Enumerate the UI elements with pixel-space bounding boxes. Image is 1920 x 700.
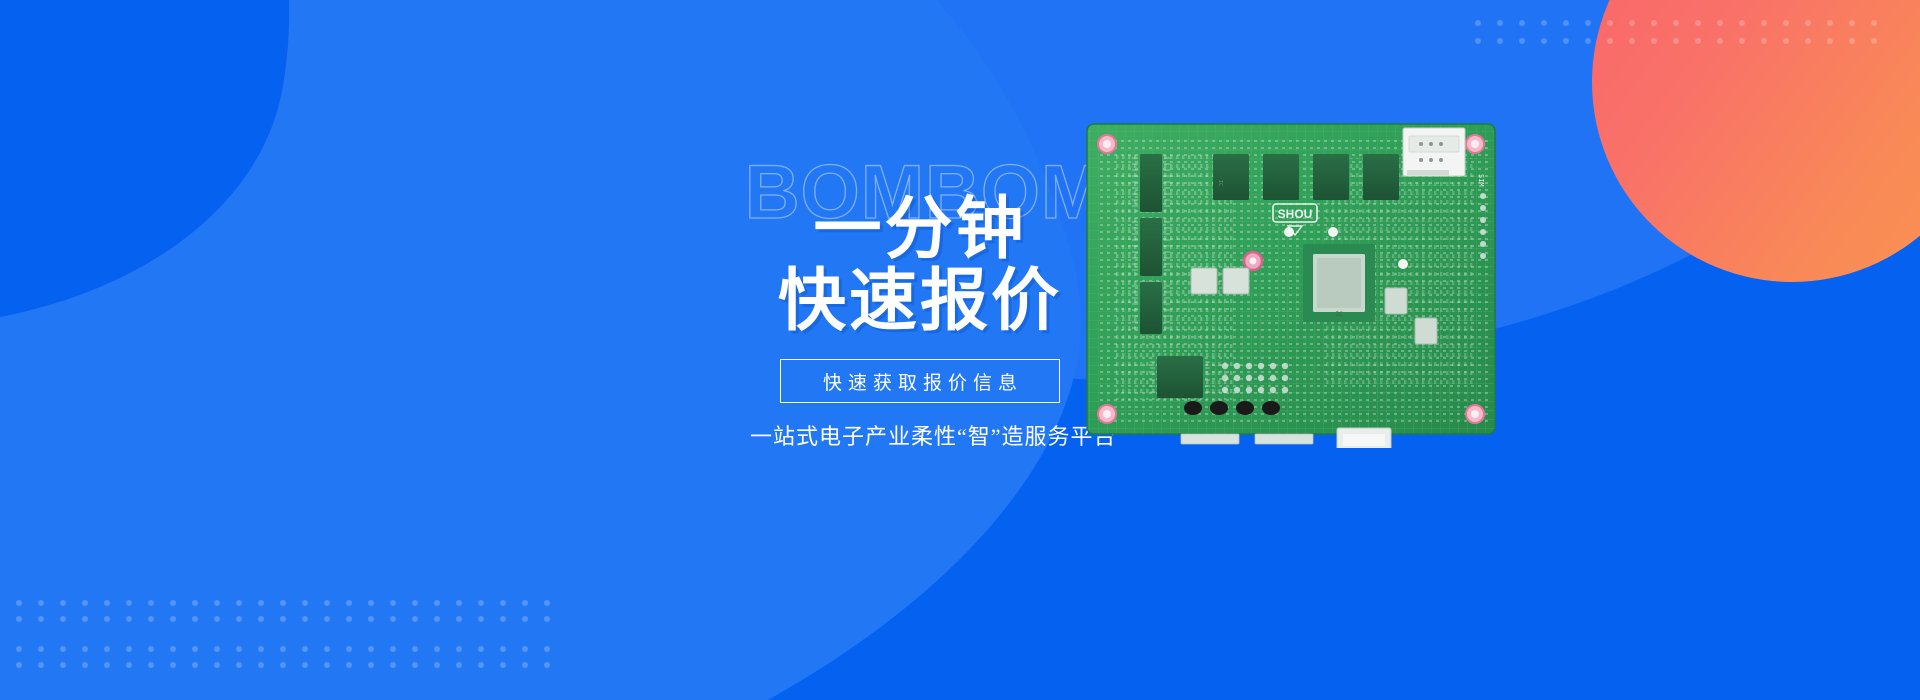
dot-row bbox=[16, 646, 566, 652]
dot bbox=[236, 600, 242, 606]
dot bbox=[412, 662, 418, 668]
dot bbox=[1695, 20, 1701, 26]
dot bbox=[258, 616, 264, 622]
dot-grid-top-right bbox=[1475, 20, 1893, 44]
dot bbox=[324, 616, 330, 622]
dot bbox=[544, 616, 550, 622]
dot bbox=[16, 662, 22, 668]
dot bbox=[148, 616, 154, 622]
dot bbox=[1651, 38, 1657, 44]
dot bbox=[500, 662, 506, 668]
dot bbox=[126, 600, 132, 606]
dot bbox=[258, 600, 264, 606]
dot-row bbox=[16, 662, 566, 668]
dot bbox=[1761, 20, 1767, 26]
dot bbox=[324, 662, 330, 668]
dot bbox=[522, 616, 528, 622]
headline: 一分钟 快速报价 bbox=[750, 193, 1090, 337]
dot bbox=[544, 646, 550, 652]
dot bbox=[38, 600, 44, 606]
dot bbox=[104, 600, 110, 606]
dot bbox=[1497, 20, 1503, 26]
dot bbox=[1849, 20, 1855, 26]
dot bbox=[390, 662, 396, 668]
dot bbox=[1673, 38, 1679, 44]
dot bbox=[170, 646, 176, 652]
dot bbox=[148, 646, 154, 652]
dot bbox=[236, 646, 242, 652]
dot bbox=[82, 616, 88, 622]
dot bbox=[16, 646, 22, 652]
dot bbox=[1475, 38, 1481, 44]
dot bbox=[104, 662, 110, 668]
dot bbox=[82, 646, 88, 652]
dot bbox=[324, 600, 330, 606]
dot bbox=[434, 616, 440, 622]
dot bbox=[126, 662, 132, 668]
dot bbox=[1827, 38, 1833, 44]
dot bbox=[1783, 38, 1789, 44]
dot bbox=[60, 662, 66, 668]
dot bbox=[170, 662, 176, 668]
dot bbox=[478, 600, 484, 606]
dot bbox=[82, 600, 88, 606]
dot bbox=[1849, 38, 1855, 44]
dot bbox=[390, 646, 396, 652]
dot bbox=[1871, 20, 1877, 26]
dot bbox=[16, 600, 22, 606]
dot bbox=[214, 600, 220, 606]
dot bbox=[1805, 20, 1811, 26]
dot bbox=[478, 662, 484, 668]
dot bbox=[1673, 20, 1679, 26]
dot-row bbox=[1475, 20, 1893, 26]
dot bbox=[478, 616, 484, 622]
dot bbox=[456, 600, 462, 606]
dot bbox=[1651, 20, 1657, 26]
dot bbox=[60, 646, 66, 652]
dot bbox=[148, 600, 154, 606]
dot bbox=[280, 616, 286, 622]
dot bbox=[280, 600, 286, 606]
svg-text:IC: IC bbox=[1335, 311, 1343, 318]
dot bbox=[1585, 38, 1591, 44]
headline-line-2: 快速报价 bbox=[750, 265, 1090, 337]
dot bbox=[1827, 20, 1833, 26]
dot bbox=[192, 646, 198, 652]
dot bbox=[1629, 20, 1635, 26]
dot-row bbox=[16, 616, 566, 622]
dot bbox=[104, 646, 110, 652]
dot bbox=[368, 662, 374, 668]
dot-grid-bottom-left bbox=[16, 600, 566, 668]
dot bbox=[544, 600, 550, 606]
dot bbox=[1739, 38, 1745, 44]
dot bbox=[500, 646, 506, 652]
dot bbox=[302, 646, 308, 652]
dot bbox=[456, 662, 462, 668]
headline-line-1: 一分钟 bbox=[750, 193, 1090, 265]
dot bbox=[1783, 20, 1789, 26]
dot bbox=[412, 616, 418, 622]
dot bbox=[522, 662, 528, 668]
tagline: 一站式电子产业柔性“智”造服务平台 bbox=[750, 419, 1090, 451]
dot bbox=[346, 616, 352, 622]
dot bbox=[1739, 20, 1745, 26]
dot bbox=[434, 646, 440, 652]
dot bbox=[368, 646, 374, 652]
get-quote-button[interactable]: 快速获取报价信息 bbox=[780, 359, 1060, 403]
pcb-edge-label: SIM bbox=[1477, 174, 1485, 187]
dot bbox=[126, 616, 132, 622]
pcb-main-processor: IC bbox=[1303, 244, 1375, 322]
svg-text:IC: IC bbox=[1217, 180, 1223, 186]
dot bbox=[60, 600, 66, 606]
dot bbox=[478, 646, 484, 652]
dot bbox=[412, 646, 418, 652]
dot bbox=[1519, 20, 1525, 26]
dot bbox=[258, 662, 264, 668]
dot bbox=[1541, 20, 1547, 26]
dot bbox=[1695, 38, 1701, 44]
dot bbox=[1563, 20, 1569, 26]
dot bbox=[346, 600, 352, 606]
dot bbox=[368, 600, 374, 606]
get-quote-button-label: 快速获取报价信息 bbox=[817, 368, 1023, 395]
dot bbox=[1497, 38, 1503, 44]
pcb-board-image: IC IC bbox=[1085, 118, 1507, 448]
dot bbox=[434, 662, 440, 668]
dot bbox=[38, 662, 44, 668]
dot bbox=[126, 646, 132, 652]
dot bbox=[1717, 38, 1723, 44]
dot bbox=[346, 646, 352, 652]
hero-copy-block: BOMBOM 一分钟 快速报价 快速获取报价信息 一站式电子产业柔性“智”造服务… bbox=[750, 155, 1090, 451]
dot bbox=[60, 616, 66, 622]
dot bbox=[82, 662, 88, 668]
dot bbox=[1717, 20, 1723, 26]
dot bbox=[192, 600, 198, 606]
pcb-silkscreen-label: SHOU bbox=[1278, 207, 1313, 221]
dot bbox=[192, 662, 198, 668]
dot bbox=[346, 662, 352, 668]
dot bbox=[1607, 20, 1613, 26]
dot bbox=[544, 662, 550, 668]
promo-banner: BOMBOM 一分钟 快速报价 快速获取报价信息 一站式电子产业柔性“智”造服务… bbox=[0, 0, 1920, 700]
dot bbox=[280, 646, 286, 652]
dot bbox=[192, 616, 198, 622]
dot bbox=[170, 600, 176, 606]
dot bbox=[302, 600, 308, 606]
pcb-qfp-chip bbox=[1150, 356, 1210, 398]
dot bbox=[456, 646, 462, 652]
dot-row bbox=[16, 600, 566, 606]
dot bbox=[368, 616, 374, 622]
dot bbox=[1805, 38, 1811, 44]
dot bbox=[522, 646, 528, 652]
dot bbox=[1541, 38, 1547, 44]
dot bbox=[38, 646, 44, 652]
dot bbox=[16, 616, 22, 622]
dot bbox=[412, 600, 418, 606]
dot bbox=[148, 662, 154, 668]
dot bbox=[390, 616, 396, 622]
dot-row bbox=[1475, 38, 1893, 44]
dot bbox=[434, 600, 440, 606]
dot bbox=[1475, 20, 1481, 26]
dot bbox=[500, 600, 506, 606]
dot bbox=[1585, 20, 1591, 26]
dot bbox=[236, 662, 242, 668]
dot bbox=[302, 662, 308, 668]
dot bbox=[214, 616, 220, 622]
dot bbox=[258, 646, 264, 652]
dot bbox=[214, 646, 220, 652]
dot bbox=[390, 600, 396, 606]
dot bbox=[38, 616, 44, 622]
dot bbox=[1563, 38, 1569, 44]
dot bbox=[324, 646, 330, 652]
dot bbox=[1629, 38, 1635, 44]
dot bbox=[236, 616, 242, 622]
dot bbox=[1519, 38, 1525, 44]
dot bbox=[522, 600, 528, 606]
dot bbox=[170, 616, 176, 622]
dot bbox=[456, 616, 462, 622]
dot bbox=[500, 616, 506, 622]
dot bbox=[1607, 38, 1613, 44]
dot bbox=[214, 662, 220, 668]
dot bbox=[104, 616, 110, 622]
dot bbox=[1761, 38, 1767, 44]
dot bbox=[280, 662, 286, 668]
dot bbox=[1871, 38, 1877, 44]
dot bbox=[302, 616, 308, 622]
